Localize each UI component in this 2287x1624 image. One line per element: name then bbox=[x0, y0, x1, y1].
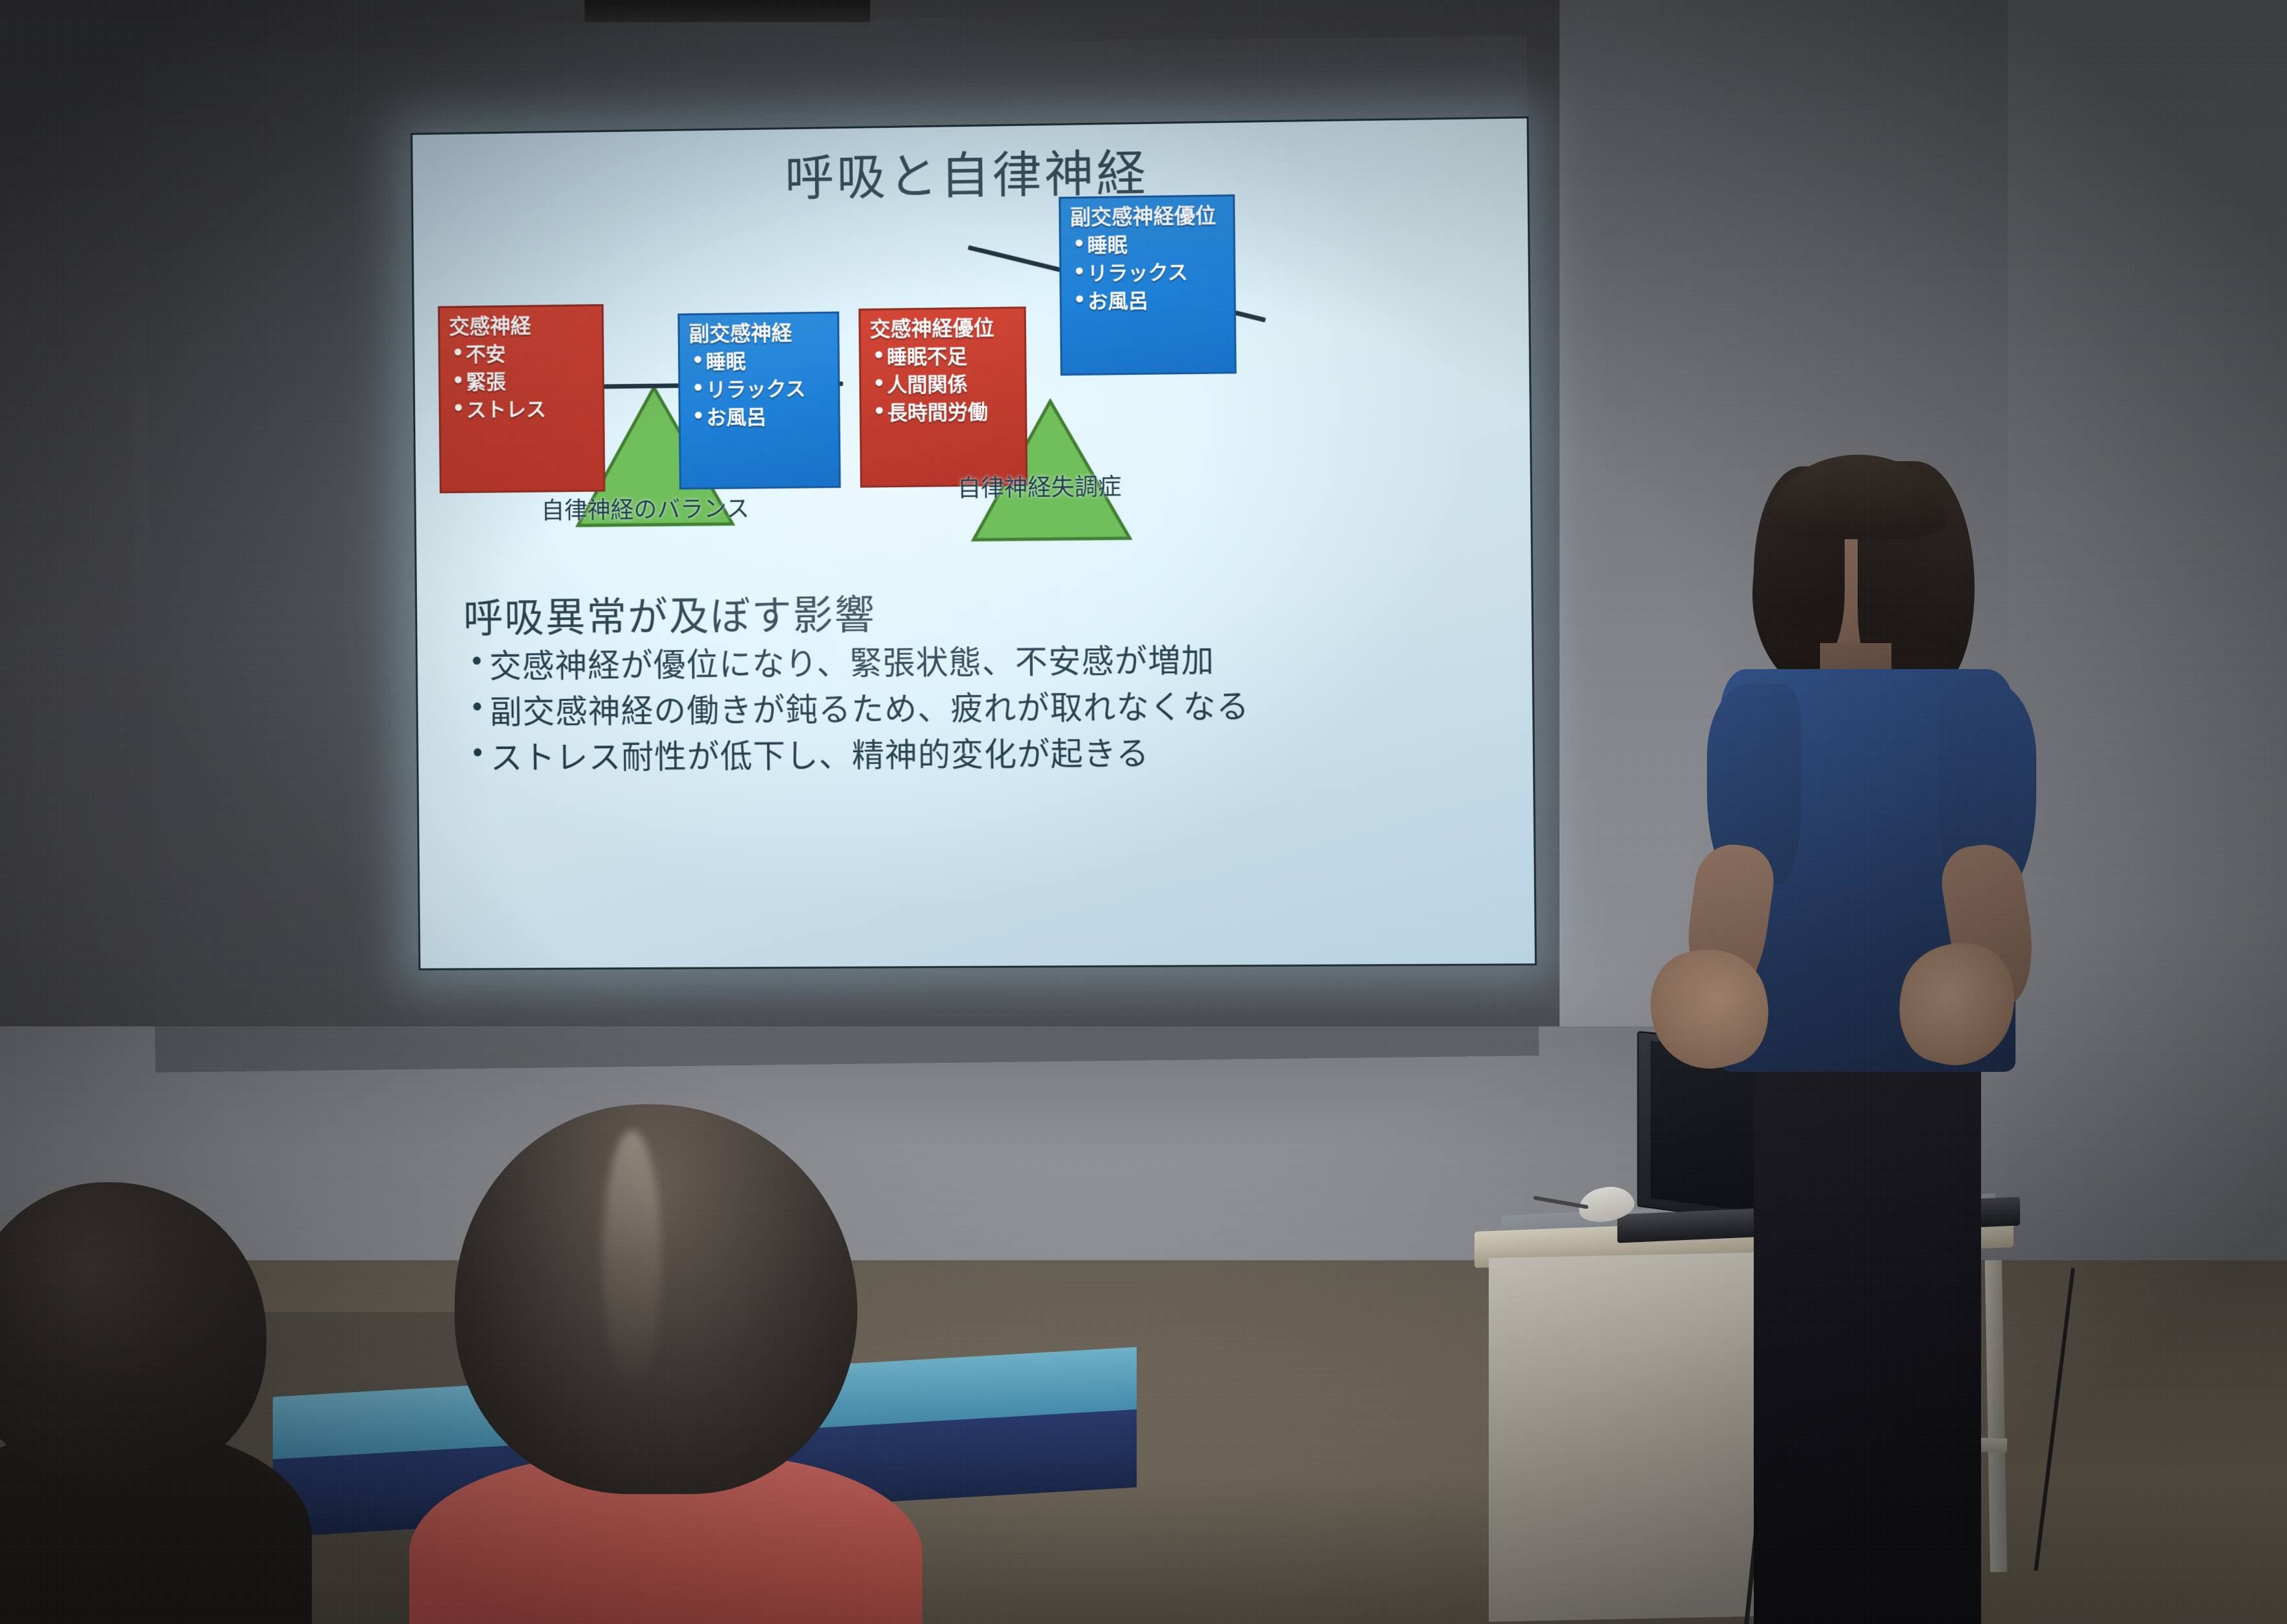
list-item: リラックス bbox=[689, 377, 829, 403]
list-item: 睡眠不足 bbox=[870, 344, 1015, 370]
box-parasympathetic: 副交感神経 睡眠 リラックス お風呂 bbox=[677, 311, 840, 489]
presentation-slide: 呼吸と自律神経 交感神経 不安 緊張 ストレス 副交感神経 bbox=[411, 116, 1537, 971]
list-item: 長時間労働 bbox=[870, 400, 1016, 426]
list-item: 不安 bbox=[449, 342, 593, 368]
presenter-legs bbox=[1754, 1052, 1981, 1624]
box-sympathetic-dominant-header: 交感神経優位 bbox=[870, 315, 1015, 342]
box-parasympathetic-list: 睡眠 リラックス お風呂 bbox=[689, 349, 829, 431]
audience-member-left bbox=[0, 1182, 299, 1624]
box-sympathetic-dominant-list: 睡眠不足 人間関係 長時間労働 bbox=[870, 344, 1016, 426]
impact-heading: 呼吸異常が及ぼす影響 bbox=[463, 582, 876, 644]
triangle-label-balance: 自律神経のバランス bbox=[541, 490, 750, 526]
slide-title: 呼吸と自律神経 bbox=[412, 143, 1527, 208]
list-item: お風呂 bbox=[1070, 288, 1224, 315]
box-parasympathetic-dominant: 副交感神経優位 睡眠 リラックス お風呂 bbox=[1059, 194, 1237, 375]
box-sympathetic-dominant: 交感神経優位 睡眠不足 人間関係 長時間労働 bbox=[859, 307, 1028, 488]
list-item: 緊張 bbox=[449, 370, 594, 396]
list-item: ストレス bbox=[449, 397, 594, 423]
list-item: 睡眠 bbox=[689, 349, 829, 375]
impact-bullet: 交感神経が優位になり、緊張状態、不安感が増加 bbox=[468, 635, 1481, 690]
audience-member-middle bbox=[429, 1104, 909, 1624]
box-sympathetic-header: 交感神経 bbox=[449, 312, 593, 340]
box-sympathetic: 交感神経 不安 緊張 ストレス bbox=[438, 304, 605, 493]
lecture-room-scene: 呼吸と自律神経 交感神経 不安 緊張 ストレス 副交感神経 bbox=[0, 0, 2287, 1624]
impact-bullet: 副交感神経の働きが鈍るため、疲れが取れなくなる bbox=[468, 682, 1481, 736]
box-parasympathetic-header: 副交感神経 bbox=[689, 320, 828, 348]
audience-middle-hair-part bbox=[603, 1130, 661, 1390]
box-parasympathetic-dominant-header: 副交感神経優位 bbox=[1070, 203, 1224, 231]
impact-bullet: ストレス耐性が低下し、精神的変化が起きる bbox=[468, 728, 1482, 781]
audience-left-head bbox=[0, 1182, 266, 1481]
box-sympathetic-list: 不安 緊張 ストレス bbox=[449, 342, 594, 423]
list-item: リラックス bbox=[1070, 260, 1224, 287]
box-parasympathetic-dominant-list: 睡眠 リラックス お風呂 bbox=[1070, 233, 1225, 315]
list-item: 人間関係 bbox=[870, 372, 1016, 398]
list-item: 睡眠 bbox=[1070, 233, 1224, 259]
triangle-label-disorder: 自律神経失調症 bbox=[957, 468, 1122, 504]
list-item: お風呂 bbox=[690, 405, 829, 431]
ceiling-shadow bbox=[585, 0, 870, 22]
presenter bbox=[1643, 455, 2137, 1624]
impact-bullet-list: 交感神経が優位になり、緊張状態、不安感が増加 副交感神経の働きが鈍るため、疲れが… bbox=[468, 635, 1482, 781]
